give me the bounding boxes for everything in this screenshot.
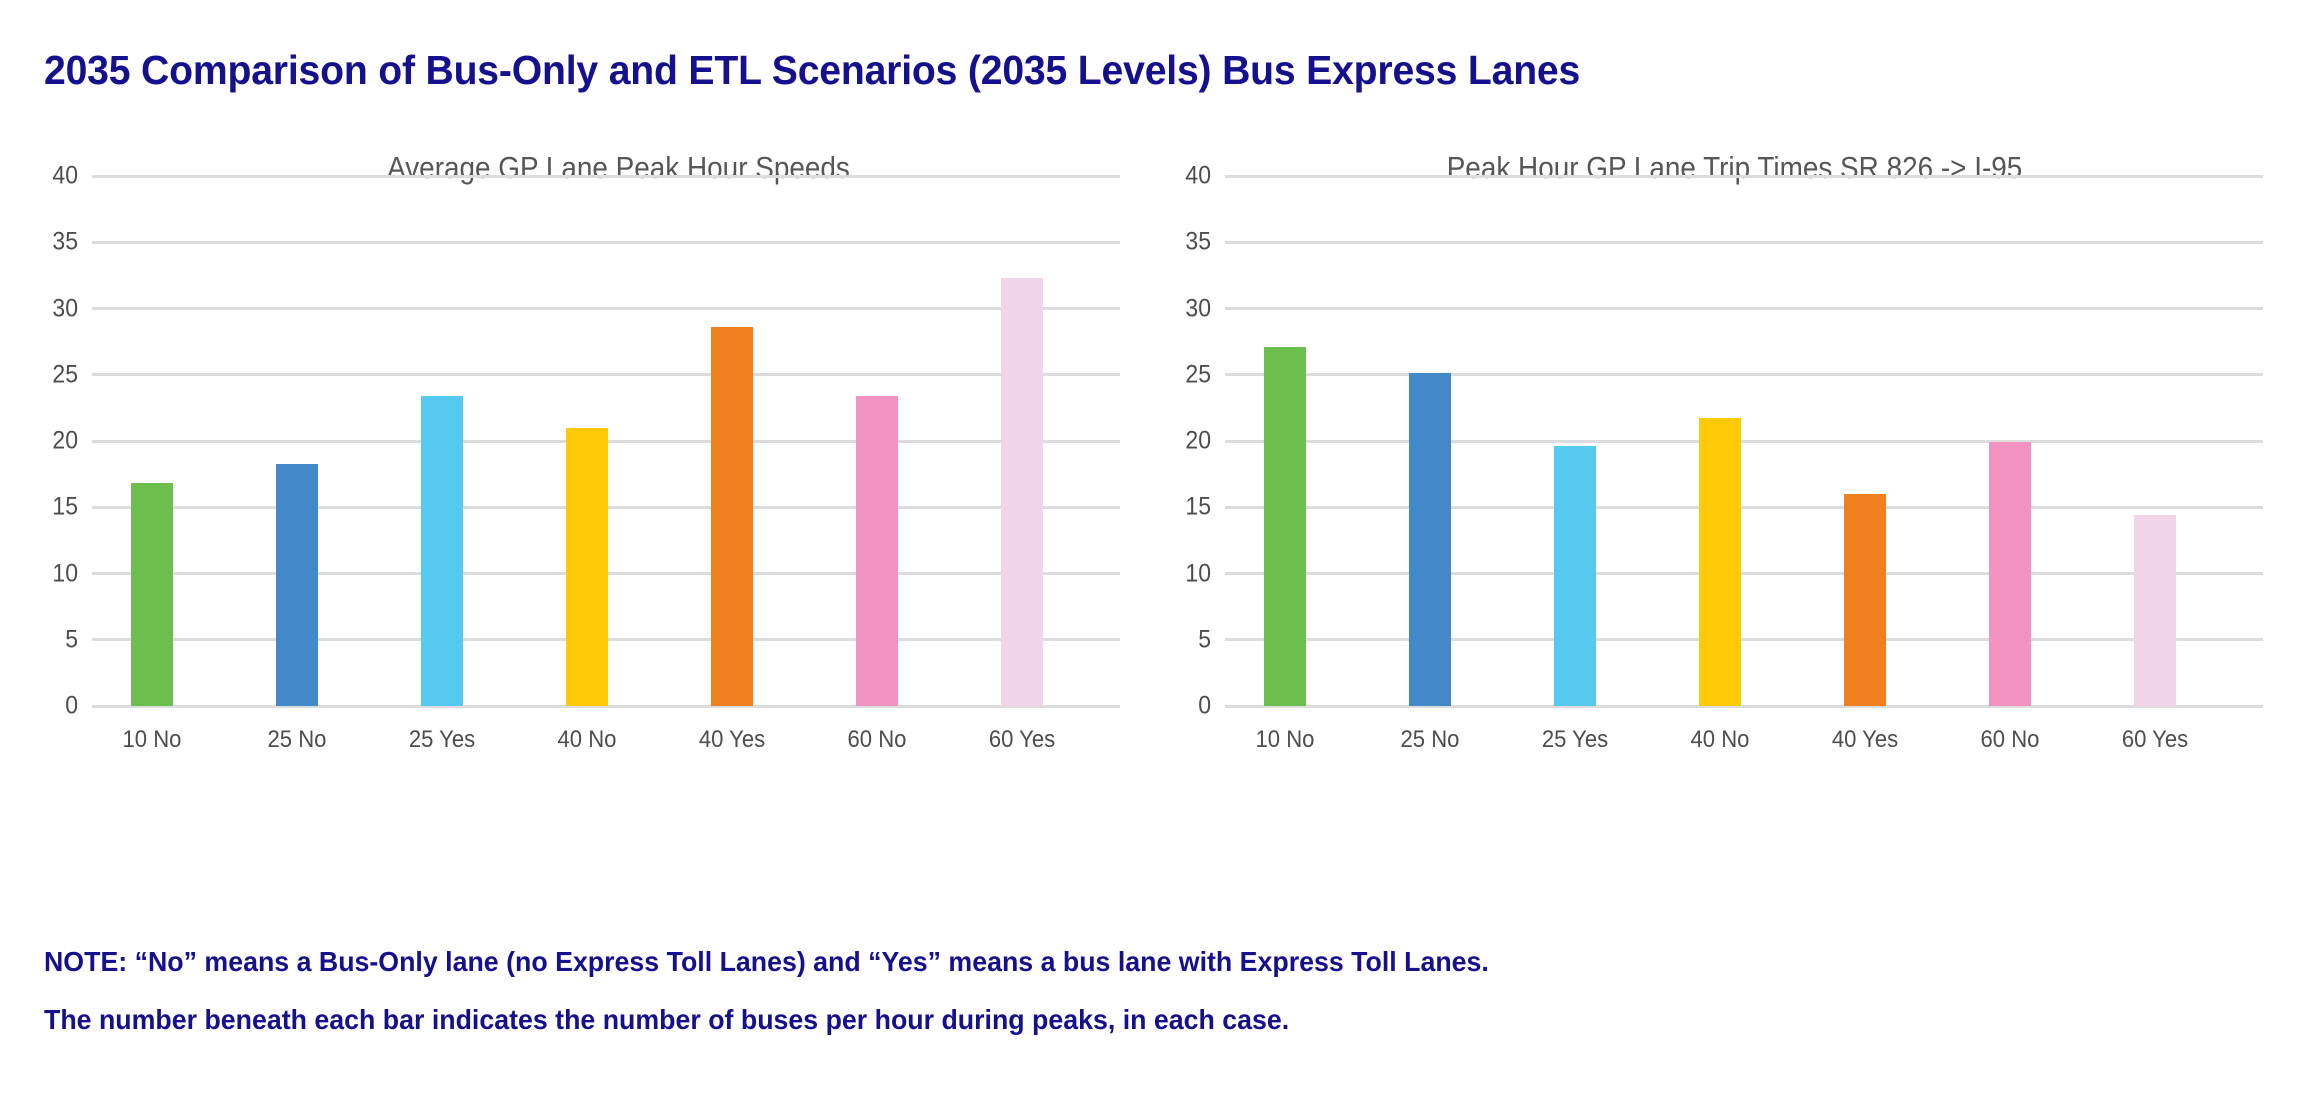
bar: [276, 464, 318, 706]
bar: [1001, 278, 1043, 706]
bar: [131, 483, 173, 706]
bar: [1554, 446, 1596, 706]
bar: [2134, 515, 2176, 706]
x-axis-tick-label: 40 No: [1651, 726, 1789, 754]
bar: [711, 327, 753, 706]
x-axis-tick-label: 60 Yes: [953, 726, 1091, 754]
x-axis-tick-label: 40 Yes: [1796, 726, 1934, 754]
note-line-2: The number beneath each bar indicates th…: [44, 1006, 2145, 1034]
page-title: 2035 Comparison of Bus-Only and ETL Scen…: [44, 48, 2155, 94]
bars-left: [30, 150, 1150, 770]
note-line-1: NOTE: “No” means a Bus-Only lane (no Exp…: [44, 948, 2145, 976]
x-axis-tick-label: 10 No: [1216, 726, 1354, 754]
x-axis-tick-label: 25 Yes: [373, 726, 511, 754]
x-axis-tick-label: 10 No: [83, 726, 221, 754]
x-axis-tick-label: 40 No: [518, 726, 656, 754]
x-axis-tick-label: 25 No: [1361, 726, 1499, 754]
x-axis-tick-label: 60 Yes: [2086, 726, 2224, 754]
chart-panel-trip-times: Peak Hour GP Lane Trip Times SR 826 -> I…: [1165, 150, 2285, 850]
x-axis-tick-label: 25 Yes: [1506, 726, 1644, 754]
slide-canvas: 2035 Comparison of Bus-Only and ETL Scen…: [0, 0, 2302, 1119]
x-axis-tick-label: 60 No: [1941, 726, 2079, 754]
x-axis-tick-label: 25 No: [228, 726, 366, 754]
bar: [1844, 494, 1886, 706]
x-axis-tick-label: 60 No: [808, 726, 946, 754]
plot-area-left: 0510152025303540 10 No25 No25 Yes40 No40…: [30, 150, 1150, 770]
bar: [1409, 373, 1451, 706]
bar: [1989, 442, 2031, 706]
bar: [1699, 418, 1741, 706]
chart-panel-average-speeds: Average GP Lane Peak Hour Speeds 0510152…: [30, 150, 1150, 850]
bar: [1264, 347, 1306, 706]
x-axis-tick-label: 40 Yes: [663, 726, 801, 754]
bar: [421, 396, 463, 706]
bars-right: [1165, 150, 2285, 770]
bar: [566, 428, 608, 706]
bar: [856, 396, 898, 706]
plot-area-right: 0510152025303540 10 No25 No25 Yes40 No40…: [1165, 150, 2285, 770]
footer-notes: NOTE: “No” means a Bus-Only lane (no Exp…: [44, 948, 2244, 1064]
